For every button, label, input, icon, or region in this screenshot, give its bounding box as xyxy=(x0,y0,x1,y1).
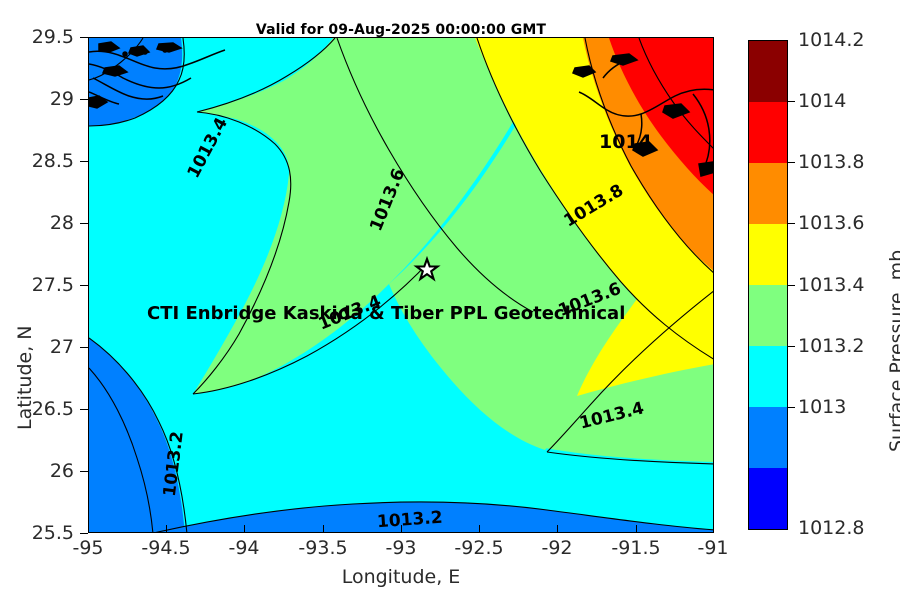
x-tick-label: -92.5 xyxy=(454,537,503,559)
y-tick xyxy=(80,533,88,534)
colorbar-band xyxy=(749,468,787,529)
colorbar-tick xyxy=(788,101,795,102)
colorbar-band xyxy=(749,346,787,407)
colorbar-tick xyxy=(788,285,795,286)
x-tick xyxy=(244,525,245,533)
x-tick-label: -91.5 xyxy=(611,537,660,559)
colorbar-band xyxy=(749,102,787,163)
colorbar-band xyxy=(749,41,787,102)
colorbar-tick-label: 1013.4 xyxy=(798,274,864,296)
site-annotation: CTI Enbridge Kaskida & Tiber PPL Geotech… xyxy=(147,303,625,324)
x-tick xyxy=(713,525,714,533)
colorbar-tick-label: 1014.2 xyxy=(798,29,864,51)
colorbar-tick-label: 1013 xyxy=(798,396,846,418)
colorbar-tick-label: 1013.2 xyxy=(798,335,864,357)
colorbar-tick-label: 1013.8 xyxy=(798,151,864,173)
y-tick xyxy=(80,347,88,348)
colorbar-band xyxy=(749,285,787,346)
y-tick xyxy=(80,409,88,410)
x-axis-label: Longitude, E xyxy=(88,566,714,588)
colorbar-tick-label: 1013.6 xyxy=(798,212,864,234)
x-tick xyxy=(636,525,637,533)
y-tick-label: 28 xyxy=(14,212,74,234)
x-tick xyxy=(557,525,558,533)
x-tick-label: -93 xyxy=(385,537,416,559)
y-tick xyxy=(80,99,88,100)
colorbar-band xyxy=(749,163,787,224)
x-tick xyxy=(88,525,89,533)
x-tick xyxy=(479,525,480,533)
y-tick xyxy=(80,37,88,38)
y-tick-label: 25.5 xyxy=(14,522,74,544)
x-tick xyxy=(166,525,167,533)
colorbar-tick xyxy=(788,407,795,408)
y-tick xyxy=(80,223,88,224)
colorbar-tick-label: 1014 xyxy=(798,90,846,112)
y-axis-label: Latitude, N xyxy=(14,326,36,431)
x-tick xyxy=(401,525,402,533)
y-tick-label: 28.5 xyxy=(14,150,74,172)
colorbar-tick xyxy=(788,162,795,163)
x-tick-label: -93.5 xyxy=(298,537,347,559)
contour-label: 1014 xyxy=(599,131,652,153)
colorbar-tick-label: 1012.8 xyxy=(798,517,864,539)
colorbar-axis-label: Surface Pressure, mb xyxy=(886,250,900,452)
y-tick-label: 29.5 xyxy=(14,26,74,48)
y-tick xyxy=(80,471,88,472)
colorbar xyxy=(748,40,788,530)
colorbar-tick xyxy=(788,346,795,347)
x-tick-label: -94 xyxy=(228,537,259,559)
x-tick xyxy=(323,525,324,533)
y-tick-label: 29 xyxy=(14,88,74,110)
colorbar-tick xyxy=(788,223,795,224)
y-tick-label: 27.5 xyxy=(14,274,74,296)
y-tick xyxy=(80,161,88,162)
y-tick xyxy=(80,285,88,286)
x-tick-label: -92 xyxy=(541,537,572,559)
x-tick-label: -95 xyxy=(72,537,103,559)
y-tick-label: 26 xyxy=(14,460,74,482)
colorbar-band xyxy=(749,224,787,285)
contour-plot: 1013.4 1013.6 1014 1013.8 1013.4 1013.6 … xyxy=(88,37,714,533)
x-tick-label: -91 xyxy=(697,537,728,559)
chart-title: Valid for 09-Aug-2025 00:00:00 GMT xyxy=(88,22,714,38)
colorbar-band xyxy=(749,407,787,468)
x-tick-label: -94.5 xyxy=(141,537,190,559)
